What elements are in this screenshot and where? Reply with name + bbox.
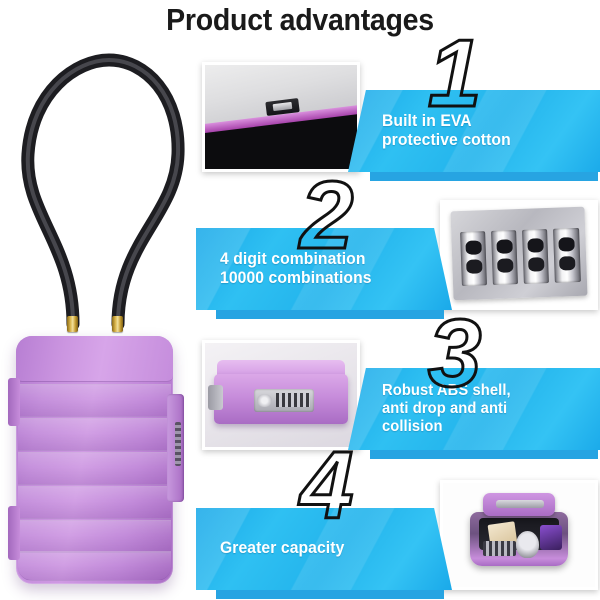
feature-text-line: Greater capacity <box>220 539 344 558</box>
abs-shell-photo <box>202 340 360 450</box>
hinge-tab-top <box>8 378 20 426</box>
feature-text: 4 digit combination 10000 combinations <box>220 250 372 288</box>
shell-ridge <box>18 551 171 581</box>
dial <box>460 231 487 286</box>
dial <box>554 228 581 283</box>
feature-banner: 4 digit combination 10000 combinations <box>196 228 452 310</box>
feature-banner: Built in EVA protective cotton <box>348 90 600 172</box>
feature-text: Greater capacity <box>220 539 344 558</box>
shell-ridge <box>18 418 171 451</box>
capacity-photo <box>440 480 598 590</box>
steel-cable-loop <box>6 44 202 344</box>
dial-housing <box>167 394 184 502</box>
banner-shadow <box>370 172 598 181</box>
feature-text-line: 4 digit combination <box>220 250 372 269</box>
feature-text-line: Built in EVA <box>382 112 511 131</box>
banner-shadow <box>216 590 444 599</box>
feature-list: Built in EVA protective cotton 1 <box>200 48 600 600</box>
cable-ferrule-right <box>112 316 123 332</box>
shell-ridge <box>18 384 171 417</box>
shell-ridge <box>18 520 171 553</box>
lock-box-lid <box>16 336 173 382</box>
feature-text-line: protective cotton <box>382 131 511 150</box>
shell-ridge <box>18 486 171 519</box>
page-title: Product advantages <box>24 2 576 38</box>
banner-shadow <box>216 310 444 319</box>
feature-row: Built in EVA protective cotton 1 <box>200 48 600 186</box>
dial <box>523 229 550 284</box>
feature-text: Robust ABS shell, anti drop and anti col… <box>382 382 511 437</box>
hero-product-image <box>6 44 202 592</box>
feature-row: Robust ABS shell, anti drop and anti col… <box>200 326 600 464</box>
feature-banner: Robust ABS shell, anti drop and anti col… <box>348 368 600 450</box>
feature-row: 4 digit combination 10000 combinations 2 <box>200 186 600 324</box>
feature-banner: Greater capacity <box>196 508 452 590</box>
feature-text: Built in EVA protective cotton <box>382 112 511 150</box>
shell-ridge <box>18 452 171 485</box>
feature-row: Greater capacity 4 <box>200 466 600 600</box>
feature-text-line: Robust ABS shell, <box>382 382 511 400</box>
eva-cotton-photo <box>202 62 360 172</box>
hinge-tab-bottom <box>8 506 20 560</box>
combination-dials-photo <box>440 200 598 310</box>
feature-text-line: collision <box>382 418 511 436</box>
product-advantages-infographic: Product advantages <box>0 0 600 600</box>
banner-shadow <box>370 450 598 459</box>
dial <box>491 230 518 285</box>
feature-text-line: anti drop and anti <box>382 400 511 418</box>
cable-ferrule-left <box>67 316 78 332</box>
cable-svg <box>6 44 202 344</box>
lock-box-body <box>16 336 173 584</box>
feature-text-line: 10000 combinations <box>220 269 372 288</box>
